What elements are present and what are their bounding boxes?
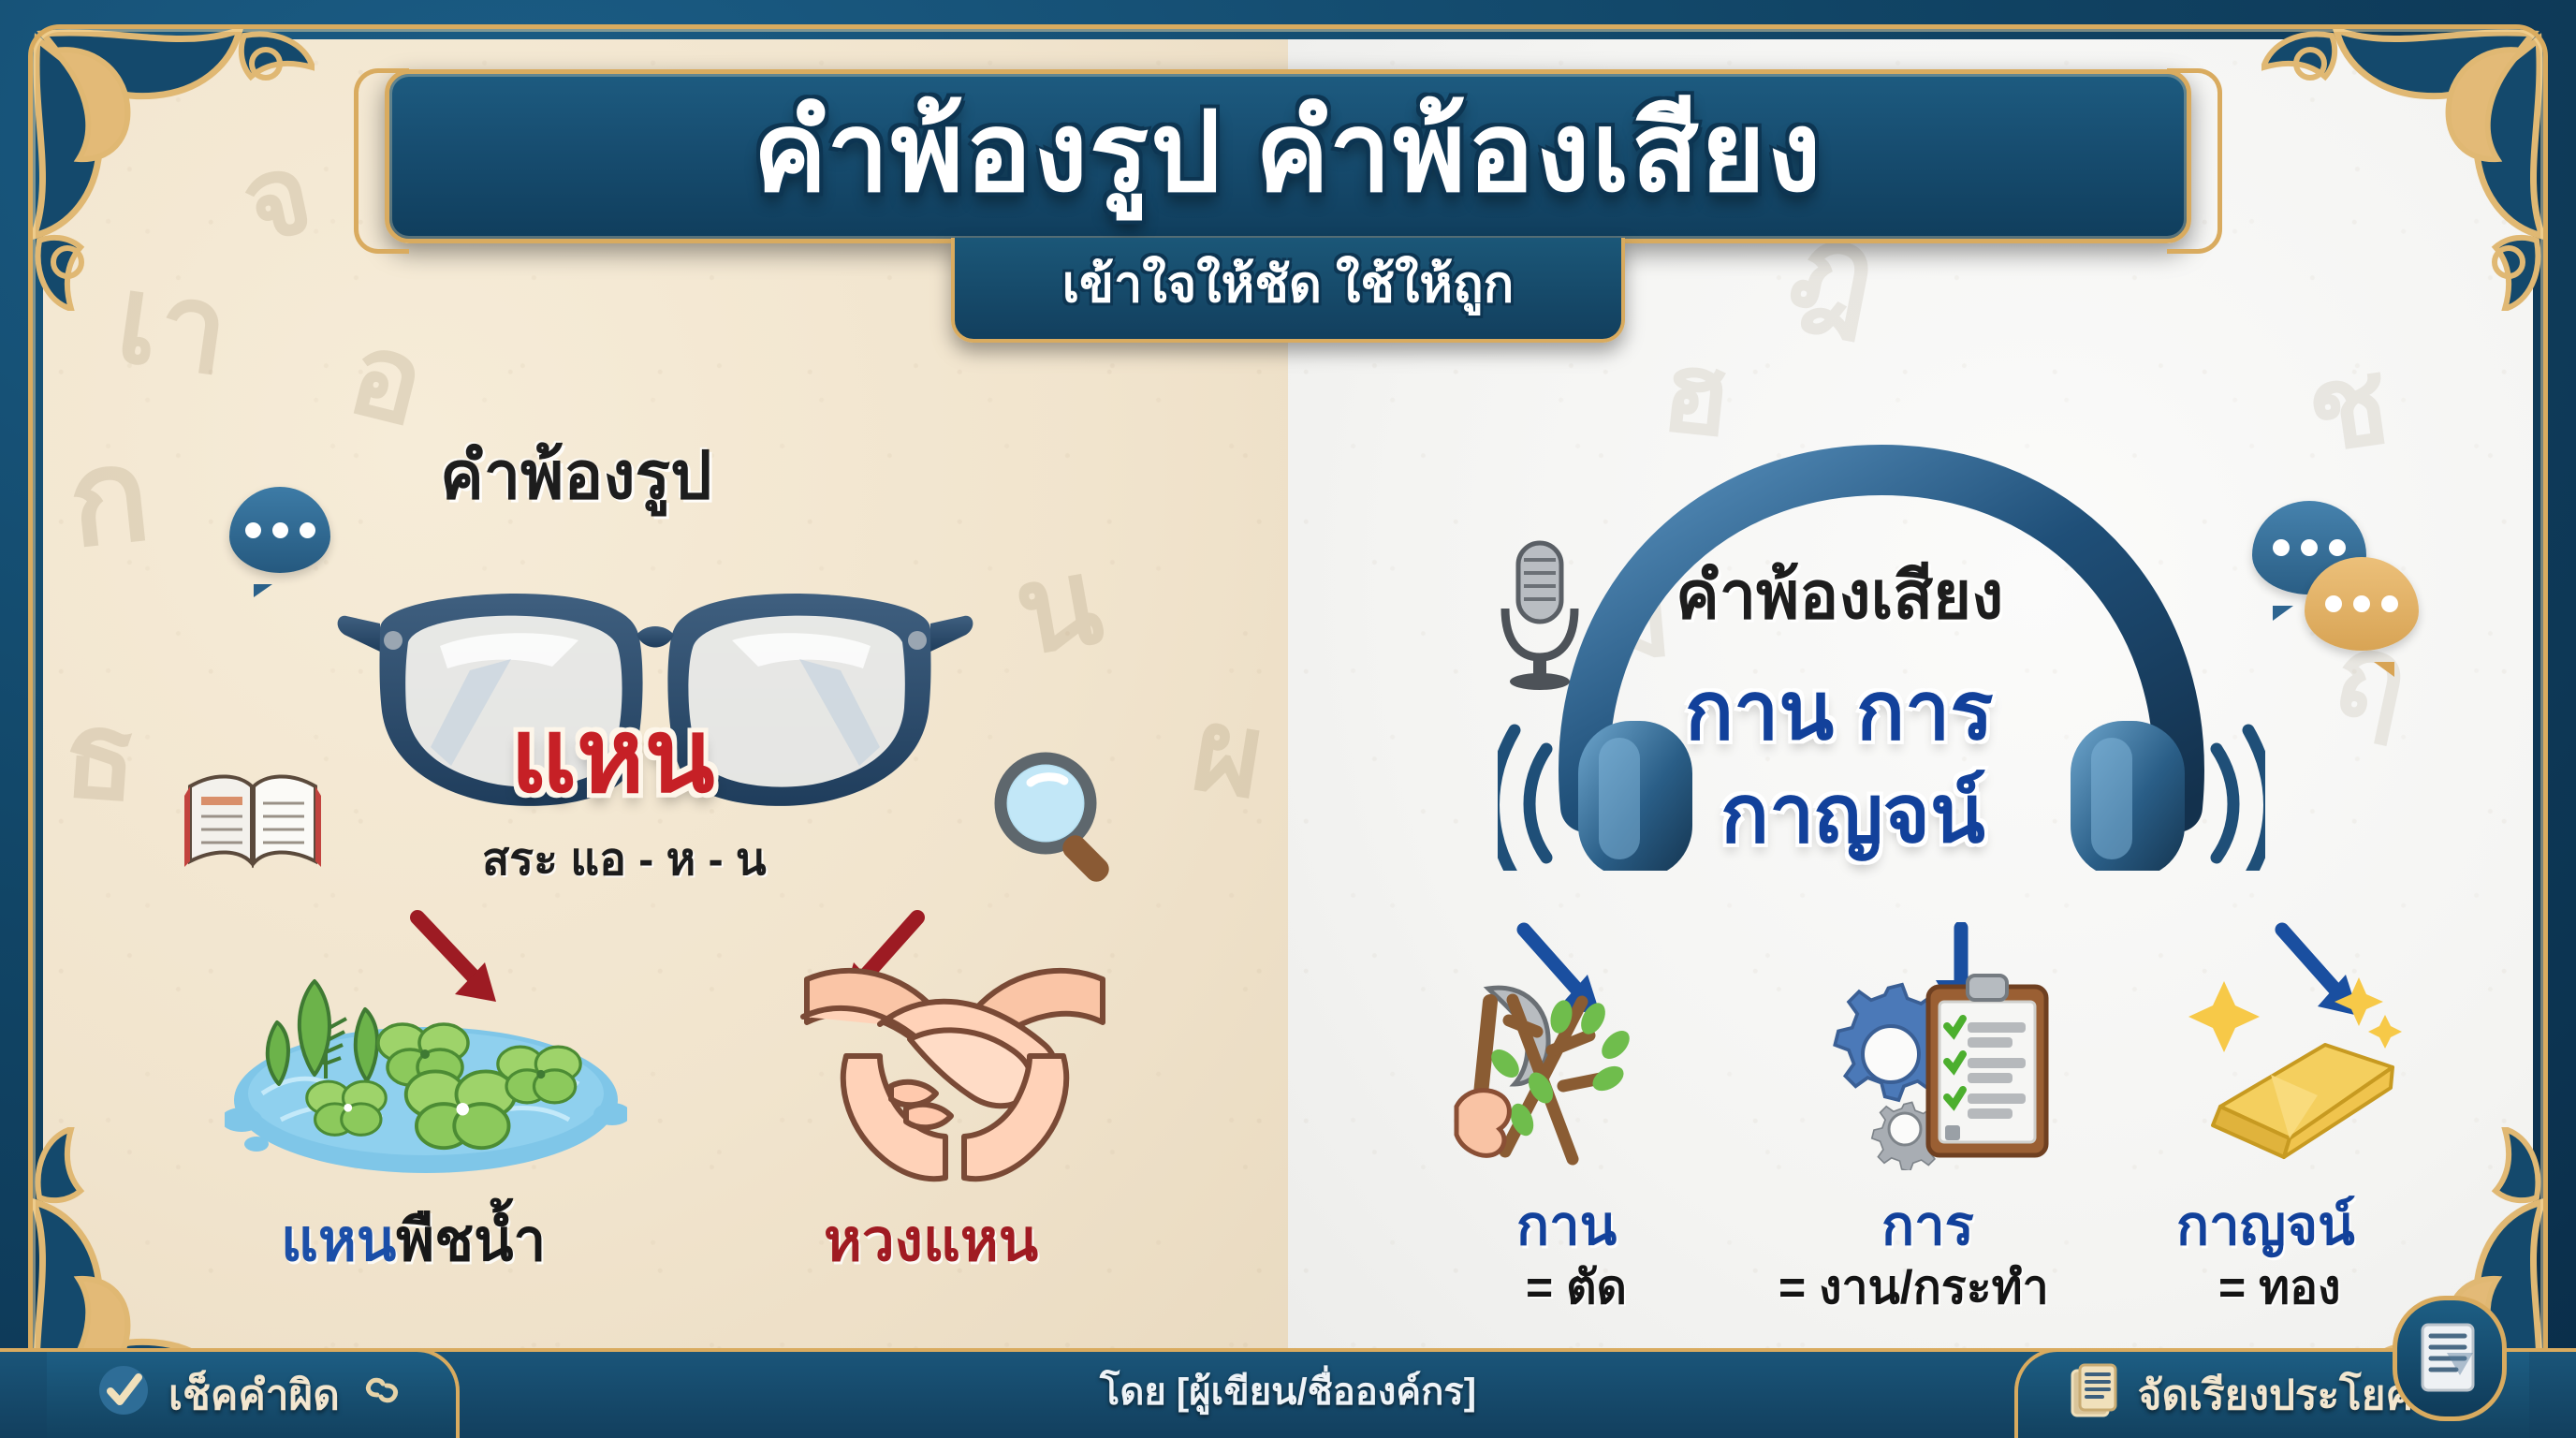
right-example-def-1: = ตัด [1526,1251,1627,1325]
check-spelling-label: เช็คคำผิด [168,1362,340,1428]
watermark-letter: ช [2301,344,2395,471]
left-spelling-breakdown: สระ แอ - ห - น [482,824,767,895]
footer: เช็คคำผิด จัดเรียงประโยค [0,1324,2576,1438]
document-lines-icon [2069,1361,2119,1430]
check-circle-icon [97,1364,150,1427]
link-chain-icon[interactable] [359,1367,405,1424]
right-section-heading: คำพ้องเสียง [1676,543,2003,647]
document-badge-icon[interactable] [2393,1296,2507,1421]
left-example-rest-1: พืชน้ำ [396,1209,546,1273]
gold-bar-icon [2181,964,2424,1175]
watermark-letter: เา [110,257,236,392]
left-section-heading: คำพ้องรูป [440,423,712,527]
infographic-poster: จ เา ก อ ธ น ผ ฎ ช ฮ ม ฤ ญ [0,0,2576,1438]
watermark-letter: ธ [60,692,142,818]
water-plant-icon [225,936,627,1184]
page-title: คำพ้องรูป คำพ้องเสียง [446,91,2130,214]
left-example-label-2: หวงแหน [824,1195,1038,1286]
left-example-label-1: แหนพืชน้ำ [281,1195,546,1286]
right-example-def-2: = งาน/กระทำ [1778,1251,2049,1325]
left-featured-word: แหน [510,674,715,837]
gear-clipboard-icon [1825,964,2069,1175]
credit-text: โดย [ผู้เขียน/ชื่อองค์กร] [1100,1361,1476,1421]
subtitle-wrap: เข้าใจให้ชัด ใช้ให้ถูก [951,238,1625,343]
open-book-icon [183,758,323,880]
watermark-letter: ก [63,429,155,567]
check-spelling-button[interactable]: เช็คคำผิด [47,1348,460,1438]
watermark-letter: ฮ [1657,336,1736,455]
right-featured-words-line2: กาญจน์ [1720,749,1985,877]
handshake-icon [786,936,1123,1194]
left-example-word-1: แหน [281,1209,396,1273]
microphone-icon [1488,534,1591,697]
sentence-order-label: จัดเรียงประโยค [2138,1362,2413,1428]
header-banner: คำพ้องรูป คำพ้องเสียง เข้าใจให้ชัด ใช้ให… [385,69,2191,343]
magnifier-icon [988,749,1128,894]
title-plaque: คำพ้องรูป คำพ้องเสียง [385,69,2191,243]
page-subtitle: เข้าใจให้ชัด ใช้ให้ถูก [951,238,1625,343]
right-example-def-3: = ทอง [2218,1251,2341,1325]
sickle-branch-icon [1451,964,1732,1175]
